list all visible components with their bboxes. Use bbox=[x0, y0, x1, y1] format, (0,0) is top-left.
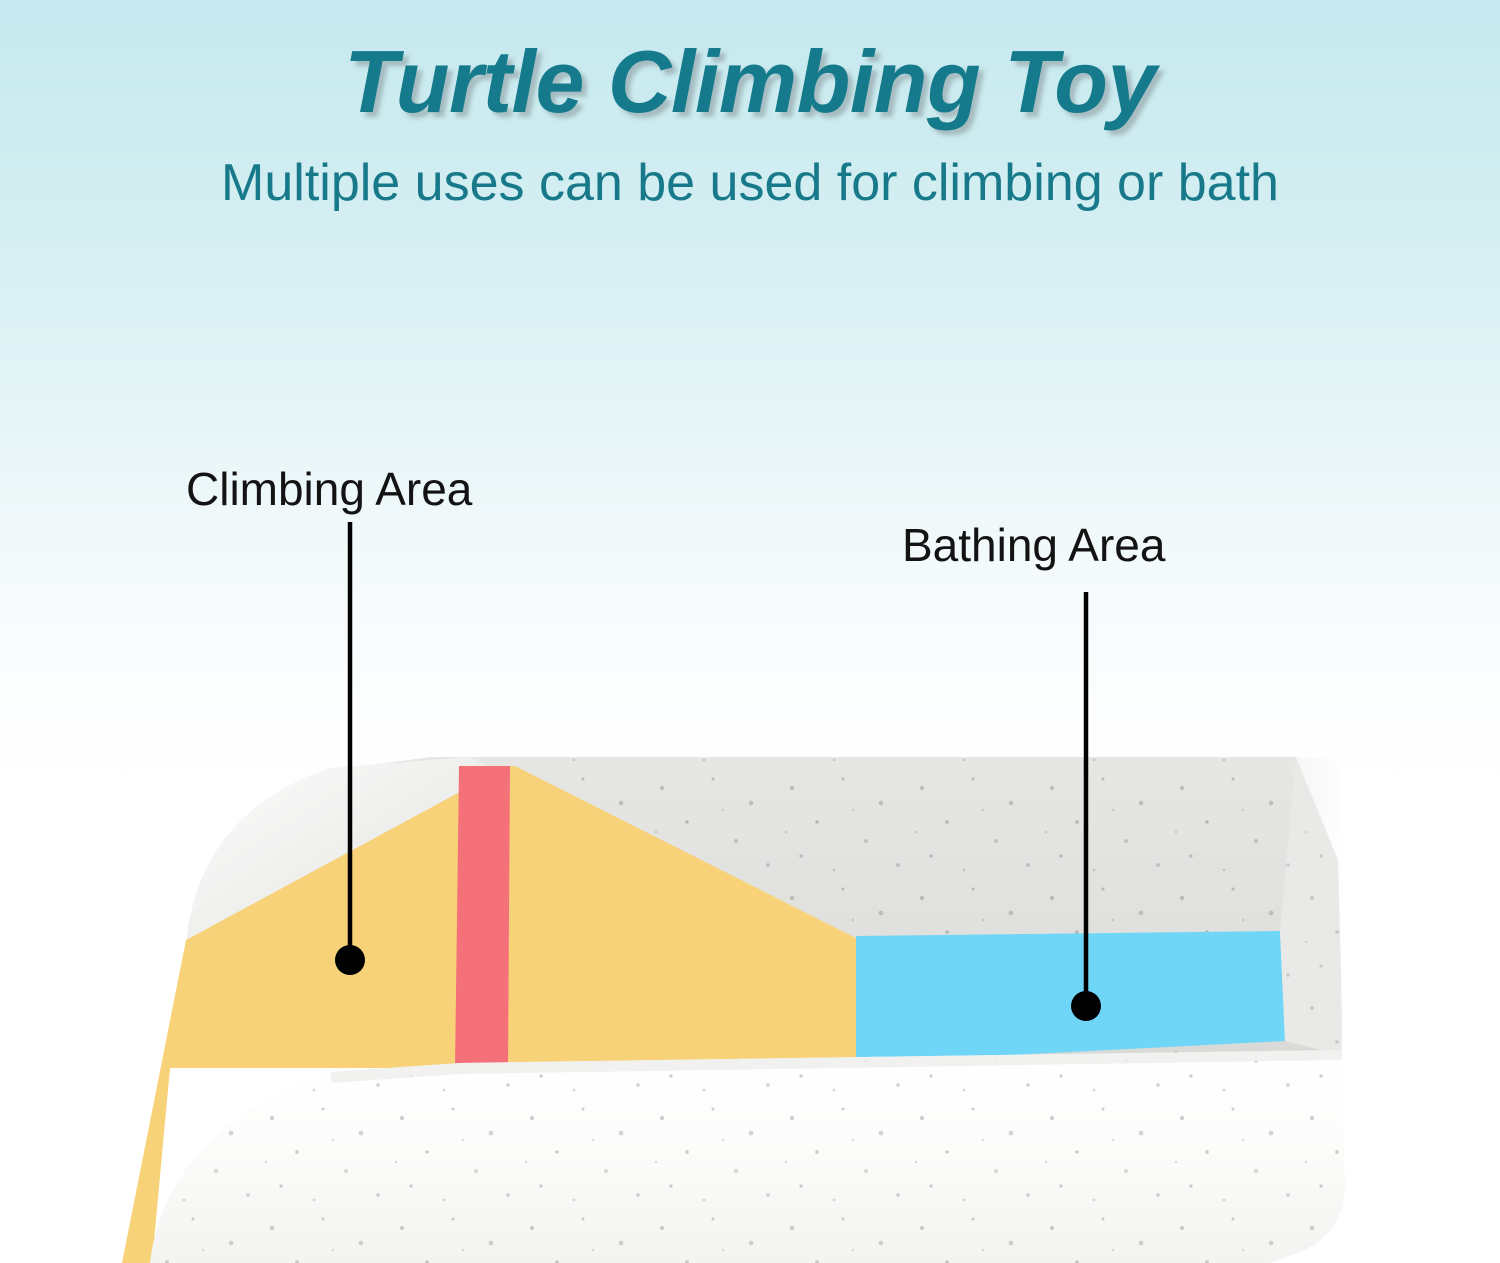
ramp-divider-strip bbox=[455, 766, 510, 1068]
product-illustration bbox=[0, 0, 1500, 1263]
leader-dot-bathing bbox=[1071, 991, 1101, 1021]
bathing-pool-area bbox=[856, 931, 1285, 1063]
callout-label-bathing-area: Bathing Area bbox=[902, 518, 1165, 572]
tray-front-face bbox=[150, 1050, 1345, 1263]
product-svg bbox=[0, 0, 1500, 1263]
poster-root: Turtle Climbing Toy Multiple uses can be… bbox=[0, 0, 1500, 1263]
callout-label-climbing-area: Climbing Area bbox=[186, 462, 472, 516]
leader-dot-climbing bbox=[335, 945, 365, 975]
